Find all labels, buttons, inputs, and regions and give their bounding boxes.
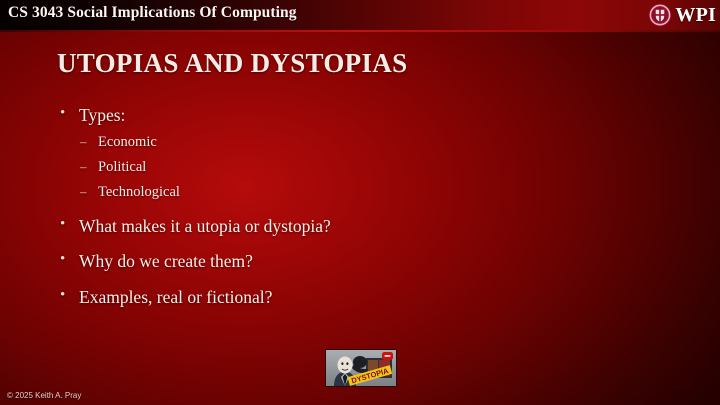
sub-bullet-marker: –: [80, 182, 87, 202]
bullet-marker: •: [60, 286, 65, 306]
sub-bullet-item-technological: – Technological: [58, 182, 658, 204]
bullet-marker: •: [60, 104, 65, 124]
wpi-logo: WPI: [648, 1, 716, 29]
video-thumbnail[interactable]: DYSTOPIA: [325, 349, 397, 387]
sub-bullet-item-political: – Political: [58, 157, 658, 179]
sub-bullet-text: Economic: [98, 134, 157, 150]
sub-bullet-item-economic: – Economic: [58, 132, 658, 154]
sub-bullet-text: Political: [98, 159, 146, 175]
sub-bullet-marker: –: [80, 132, 87, 152]
slide-canvas: CS 3043 Social Implications Of Computing…: [0, 0, 720, 405]
header-underline: [0, 30, 720, 32]
bullet-item-why-create: • Why do we create them?: [58, 250, 658, 273]
footer-copyright: © 2025 Keith A. Pray: [7, 391, 81, 400]
bullet-marker: •: [60, 215, 65, 235]
slide-header-bar: CS 3043 Social Implications Of Computing…: [0, 0, 720, 30]
sub-bullet-text: Technological: [98, 184, 180, 200]
bullet-text: Types:: [79, 105, 125, 125]
bullet-item-examples: • Examples, real or fictional?: [58, 286, 658, 309]
bullet-text: Why do we create them?: [79, 251, 253, 271]
course-title: CS 3043 Social Implications Of Computing: [8, 4, 297, 22]
bullet-text: What makes it a utopia or dystopia?: [79, 216, 331, 236]
slide-title: UTOPIAS AND DYSTOPIAS: [57, 48, 407, 79]
bullet-marker: •: [60, 250, 65, 270]
wpi-seal-icon: [648, 3, 672, 27]
sub-bullet-marker: –: [80, 157, 87, 177]
wpi-wordmark: WPI: [675, 5, 716, 25]
bullet-item-types: • Types:: [58, 104, 658, 127]
bullet-item-what-makes-it: • What makes it a utopia or dystopia?: [58, 215, 658, 238]
youtube-badge-icon: [382, 352, 393, 360]
bullet-text: Examples, real or fictional?: [79, 287, 272, 307]
bullet-list: • Types: – Economic – Political – Techno…: [58, 104, 658, 314]
